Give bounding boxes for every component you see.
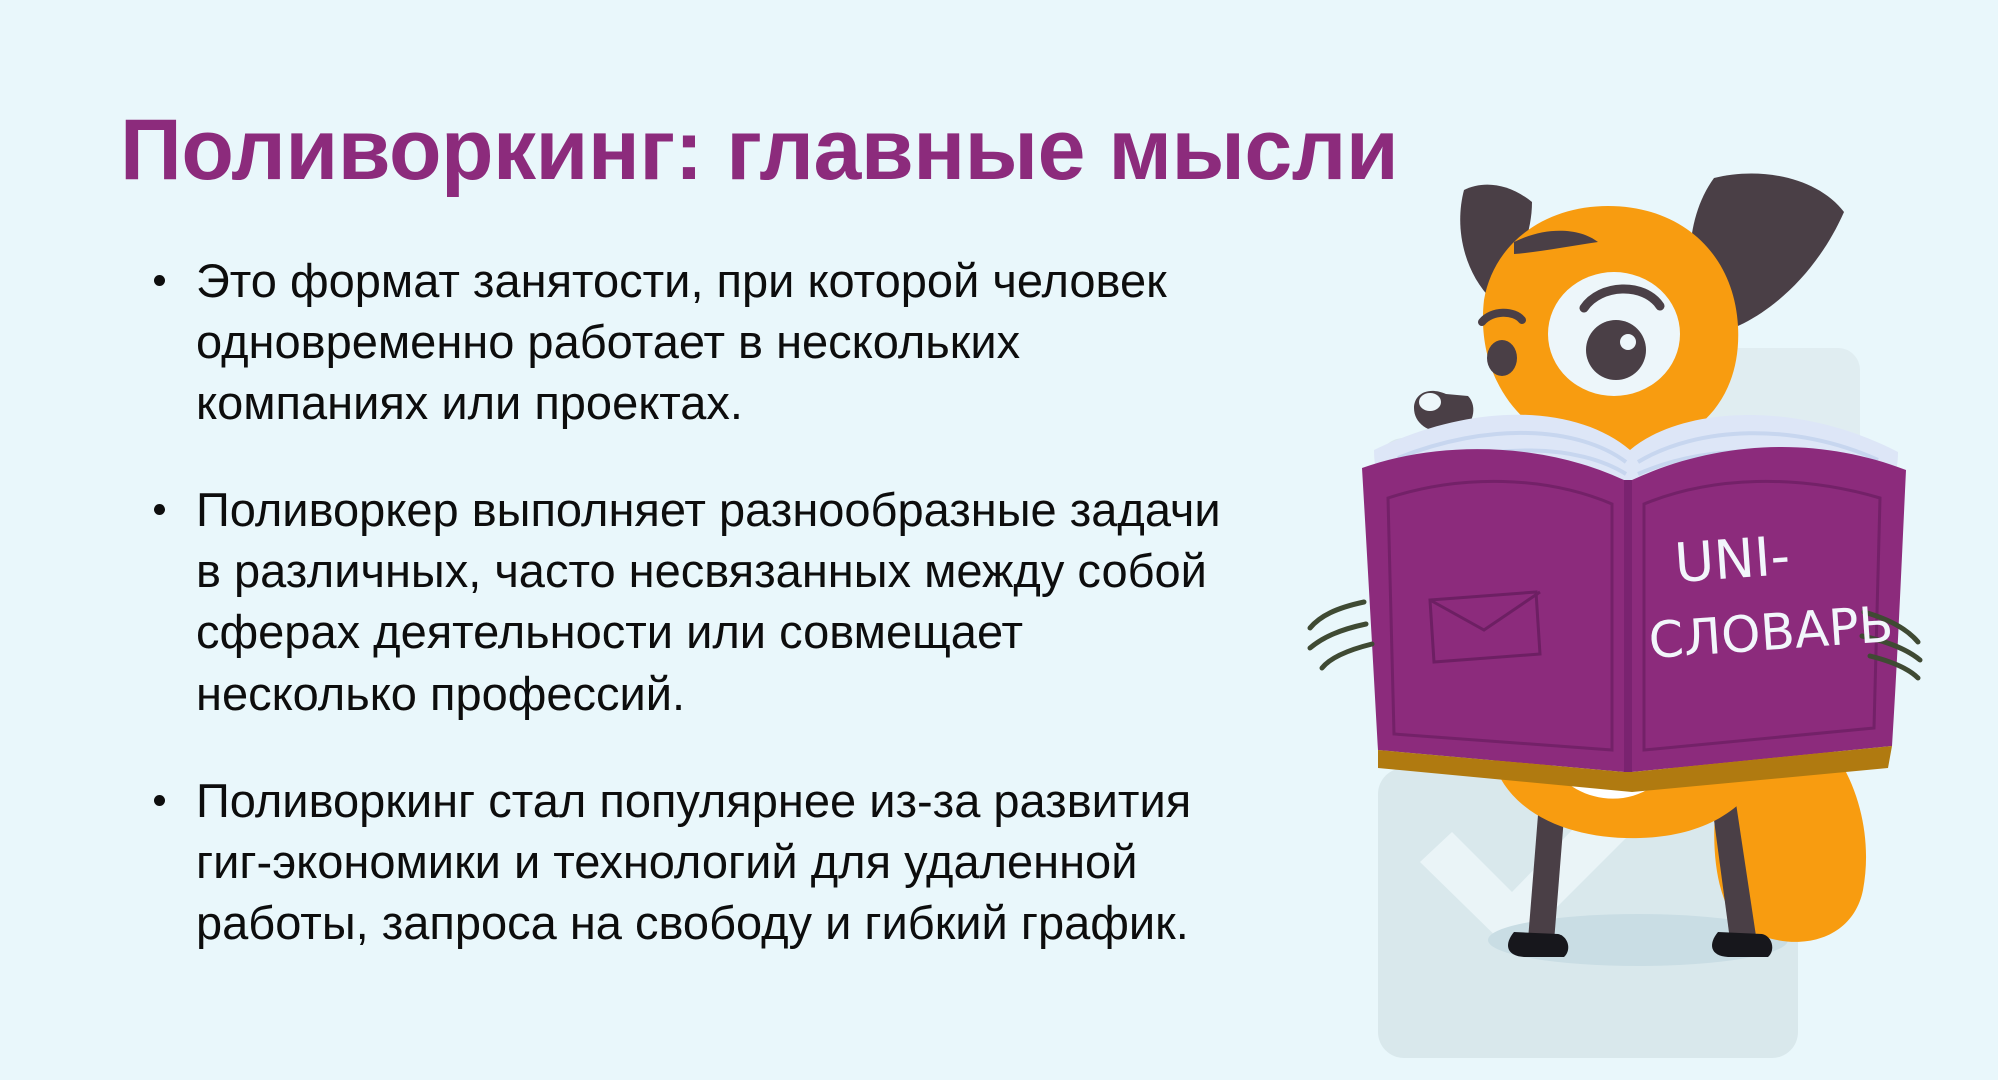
fox-reading-illustration: UNI- СЛОВАРЬ xyxy=(1278,150,1998,1050)
book-title-line1: UNI- xyxy=(1673,524,1792,595)
fox-foot-left xyxy=(1508,932,1568,957)
bullet-dot-icon xyxy=(154,795,165,806)
bullet-dot-icon xyxy=(154,275,165,286)
fox-eye-right xyxy=(1586,320,1646,380)
book-cover: UNI- СЛОВАРЬ xyxy=(1310,447,1920,792)
list-item: Поливоркинг стал популярнее из-за развит… xyxy=(140,770,1230,953)
bullet-text: Поливоркинг стал популярнее из-за развит… xyxy=(196,774,1191,949)
bullet-text: Поливоркер выполняет разнообразные задач… xyxy=(196,483,1221,719)
bullet-text: Это формат занятости, при которой челове… xyxy=(196,254,1167,429)
slide: Поливоркинг: главные мысли Это формат за… xyxy=(0,0,1998,1080)
bullet-dot-icon xyxy=(154,504,165,515)
fox-eye-highlight xyxy=(1620,334,1636,350)
list-item: Поливоркер выполняет разнообразные задач… xyxy=(140,479,1230,723)
list-item: Это формат занятости, при которой челове… xyxy=(140,250,1230,433)
fox-head xyxy=(1414,173,1844,452)
page-title: Поливоркинг: главные мысли xyxy=(120,106,1398,195)
bullet-list: Это формат занятости, при которой челове… xyxy=(140,250,1230,953)
fox-eye-left xyxy=(1487,340,1517,376)
fox-foot-right xyxy=(1712,932,1772,957)
fox-nose-highlight xyxy=(1419,393,1441,411)
